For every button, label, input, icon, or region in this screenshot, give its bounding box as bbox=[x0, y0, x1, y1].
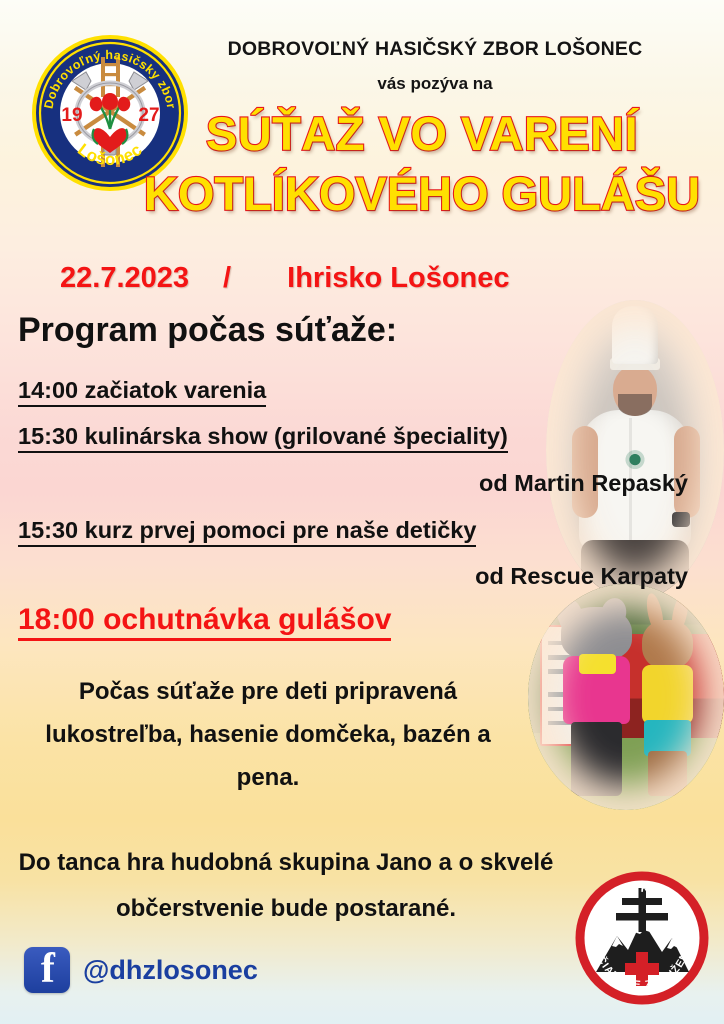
title-line-1: SÚŤAŽ VO VARENÍ bbox=[120, 104, 724, 164]
rabbit-ear-right bbox=[669, 592, 691, 635]
event-date-venue: 22.7.2023 / Ihrisko Lošonec bbox=[60, 262, 680, 295]
rescue-karpaty-logo-icon: RESCUE KARPATY OBČIANSKE ZDRUŽENIE bbox=[570, 866, 714, 1010]
wolf-ear-right bbox=[597, 595, 629, 632]
wolf-mascot-legs bbox=[571, 722, 622, 797]
facebook-contact[interactable]: @dhzlosonec bbox=[24, 947, 258, 993]
rabbit-ear-left bbox=[643, 592, 665, 635]
fire-truck bbox=[602, 634, 724, 738]
facebook-handle[interactable]: @dhzlosonec bbox=[83, 955, 258, 986]
chef-hat-band bbox=[610, 358, 660, 370]
event-date: 22.7.2023 bbox=[60, 262, 189, 294]
info-board bbox=[540, 625, 611, 747]
program-heading: Program počas súťaže: bbox=[18, 311, 397, 350]
meta-separator: / bbox=[197, 262, 257, 295]
program-item: 15:30 kulinárska show (grilované špecial… bbox=[18, 423, 508, 453]
chef-beard bbox=[618, 394, 652, 416]
facebook-icon[interactable] bbox=[24, 947, 70, 993]
tasting-highlight: 18:00 ochutnávka gulášov bbox=[18, 603, 391, 641]
program-credit: od Martin Repaský bbox=[479, 470, 688, 497]
program-item: 14:00 začiatok varenia bbox=[18, 377, 266, 407]
wolf-bowtie bbox=[579, 654, 616, 674]
rabbit-mascot-shirt bbox=[642, 665, 693, 724]
program-item: 15:30 kurz prvej pomoci pre naše detičky bbox=[18, 517, 476, 547]
emblem-year-left: 19 bbox=[61, 105, 82, 126]
rabbit-mascot-legs bbox=[648, 751, 687, 796]
page-title: SÚŤAŽ VO VARENÍ KOTLÍKOVÉHO GULÁŠU bbox=[120, 104, 724, 224]
title-line-2: KOTLÍKOVÉHO GULÁŠU bbox=[120, 164, 724, 224]
rabbit-mascot-shorts bbox=[644, 720, 691, 756]
chef-portrait-photo bbox=[546, 300, 724, 600]
program-credit: od Rescue Karpaty bbox=[475, 563, 688, 590]
event-venue: Ihrisko Lošonec bbox=[287, 262, 509, 294]
chef-toque-hat bbox=[612, 306, 658, 364]
invitation-line: vás pozýva na bbox=[170, 74, 700, 94]
rabbit-mascot-head bbox=[642, 620, 693, 670]
chef-wristwatch bbox=[672, 512, 690, 527]
chef-photo-backdrop bbox=[546, 300, 724, 600]
music-refreshments-note: Do tanca hra hudobná skupina Jano a o sk… bbox=[8, 840, 564, 932]
event-poster: 19 27 Dobrovoľný hasičsky zbor Lošonec bbox=[0, 0, 724, 1024]
kids-activities-note: Počas súťaže pre deti pripravená lukostr… bbox=[18, 670, 518, 799]
wolf-mascot-head bbox=[561, 607, 632, 661]
chef-head bbox=[613, 366, 657, 416]
organizer-name: DOBROVOĽNÝ HASIČSKÝ ZBOR LOŠONEC bbox=[170, 38, 700, 61]
mascots-children-photo bbox=[528, 584, 724, 810]
mascots-photo-backdrop bbox=[528, 584, 724, 810]
wolf-mascot-shirt bbox=[563, 656, 630, 724]
